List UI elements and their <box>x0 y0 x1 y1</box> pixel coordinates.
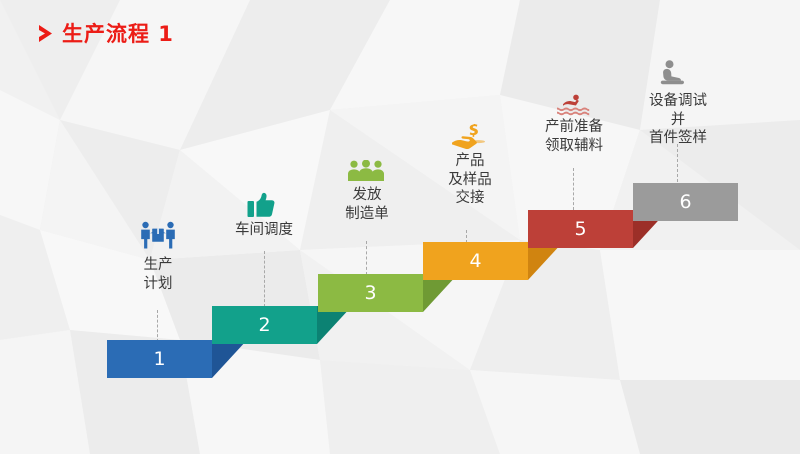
step-6-icon-seated-person <box>659 60 687 88</box>
step-5-number: 5 <box>574 220 586 239</box>
step-5-icon-swimmer-in-water <box>557 94 591 116</box>
step-2-number: 2 <box>258 316 270 335</box>
step-1-label: 生产 计划 <box>128 256 188 293</box>
step-4-riser <box>528 242 563 313</box>
slide-canvas: 生产流程 1 生产 计划 1 <box>0 0 800 454</box>
step-2-label: 车间调度 <box>219 221 309 240</box>
step-6-bar[interactable]: 6 <box>633 183 738 221</box>
chevron-right-icon <box>38 24 55 43</box>
page-title-text: 生产流程 1 <box>62 18 174 48</box>
step-5-connector-line <box>573 168 574 210</box>
step-2-bar[interactable]: 2 <box>212 306 317 344</box>
step-3-bar[interactable]: 3 <box>318 274 423 312</box>
step-5-label: 产前准备 领取辅料 <box>524 118 624 155</box>
step-4-icon-hand-holding-money <box>452 124 486 150</box>
step-1-riser <box>212 340 247 411</box>
step-6-number: 6 <box>679 193 691 212</box>
step-3-riser <box>423 274 458 345</box>
step-3-icon-group-of-three-people <box>348 160 384 182</box>
step-1-connector-line <box>157 310 158 342</box>
step-5-bar[interactable]: 5 <box>528 210 633 248</box>
step-4-label: 产品 及样品 交接 <box>438 152 502 208</box>
step-4-number: 4 <box>469 252 481 271</box>
step-1-icon-two-people-carrying-box <box>139 221 177 249</box>
step-2-icon-thumbs-up <box>247 192 275 219</box>
step-3-number: 3 <box>364 284 376 303</box>
step-6-connector-line <box>677 144 678 182</box>
page-title: 生产流程 1 <box>38 18 174 48</box>
step-3-connector-line <box>366 241 367 275</box>
step-3-label: 发放 制造单 <box>330 186 404 223</box>
step-1-bar[interactable]: 1 <box>107 340 212 378</box>
step-4-bar[interactable]: 4 <box>423 242 528 280</box>
step-2-riser <box>317 306 352 377</box>
step-1-number: 1 <box>153 350 165 369</box>
step-6-label: 设备调试 并 首件签样 <box>628 92 728 148</box>
step-2-connector-line <box>264 251 265 307</box>
